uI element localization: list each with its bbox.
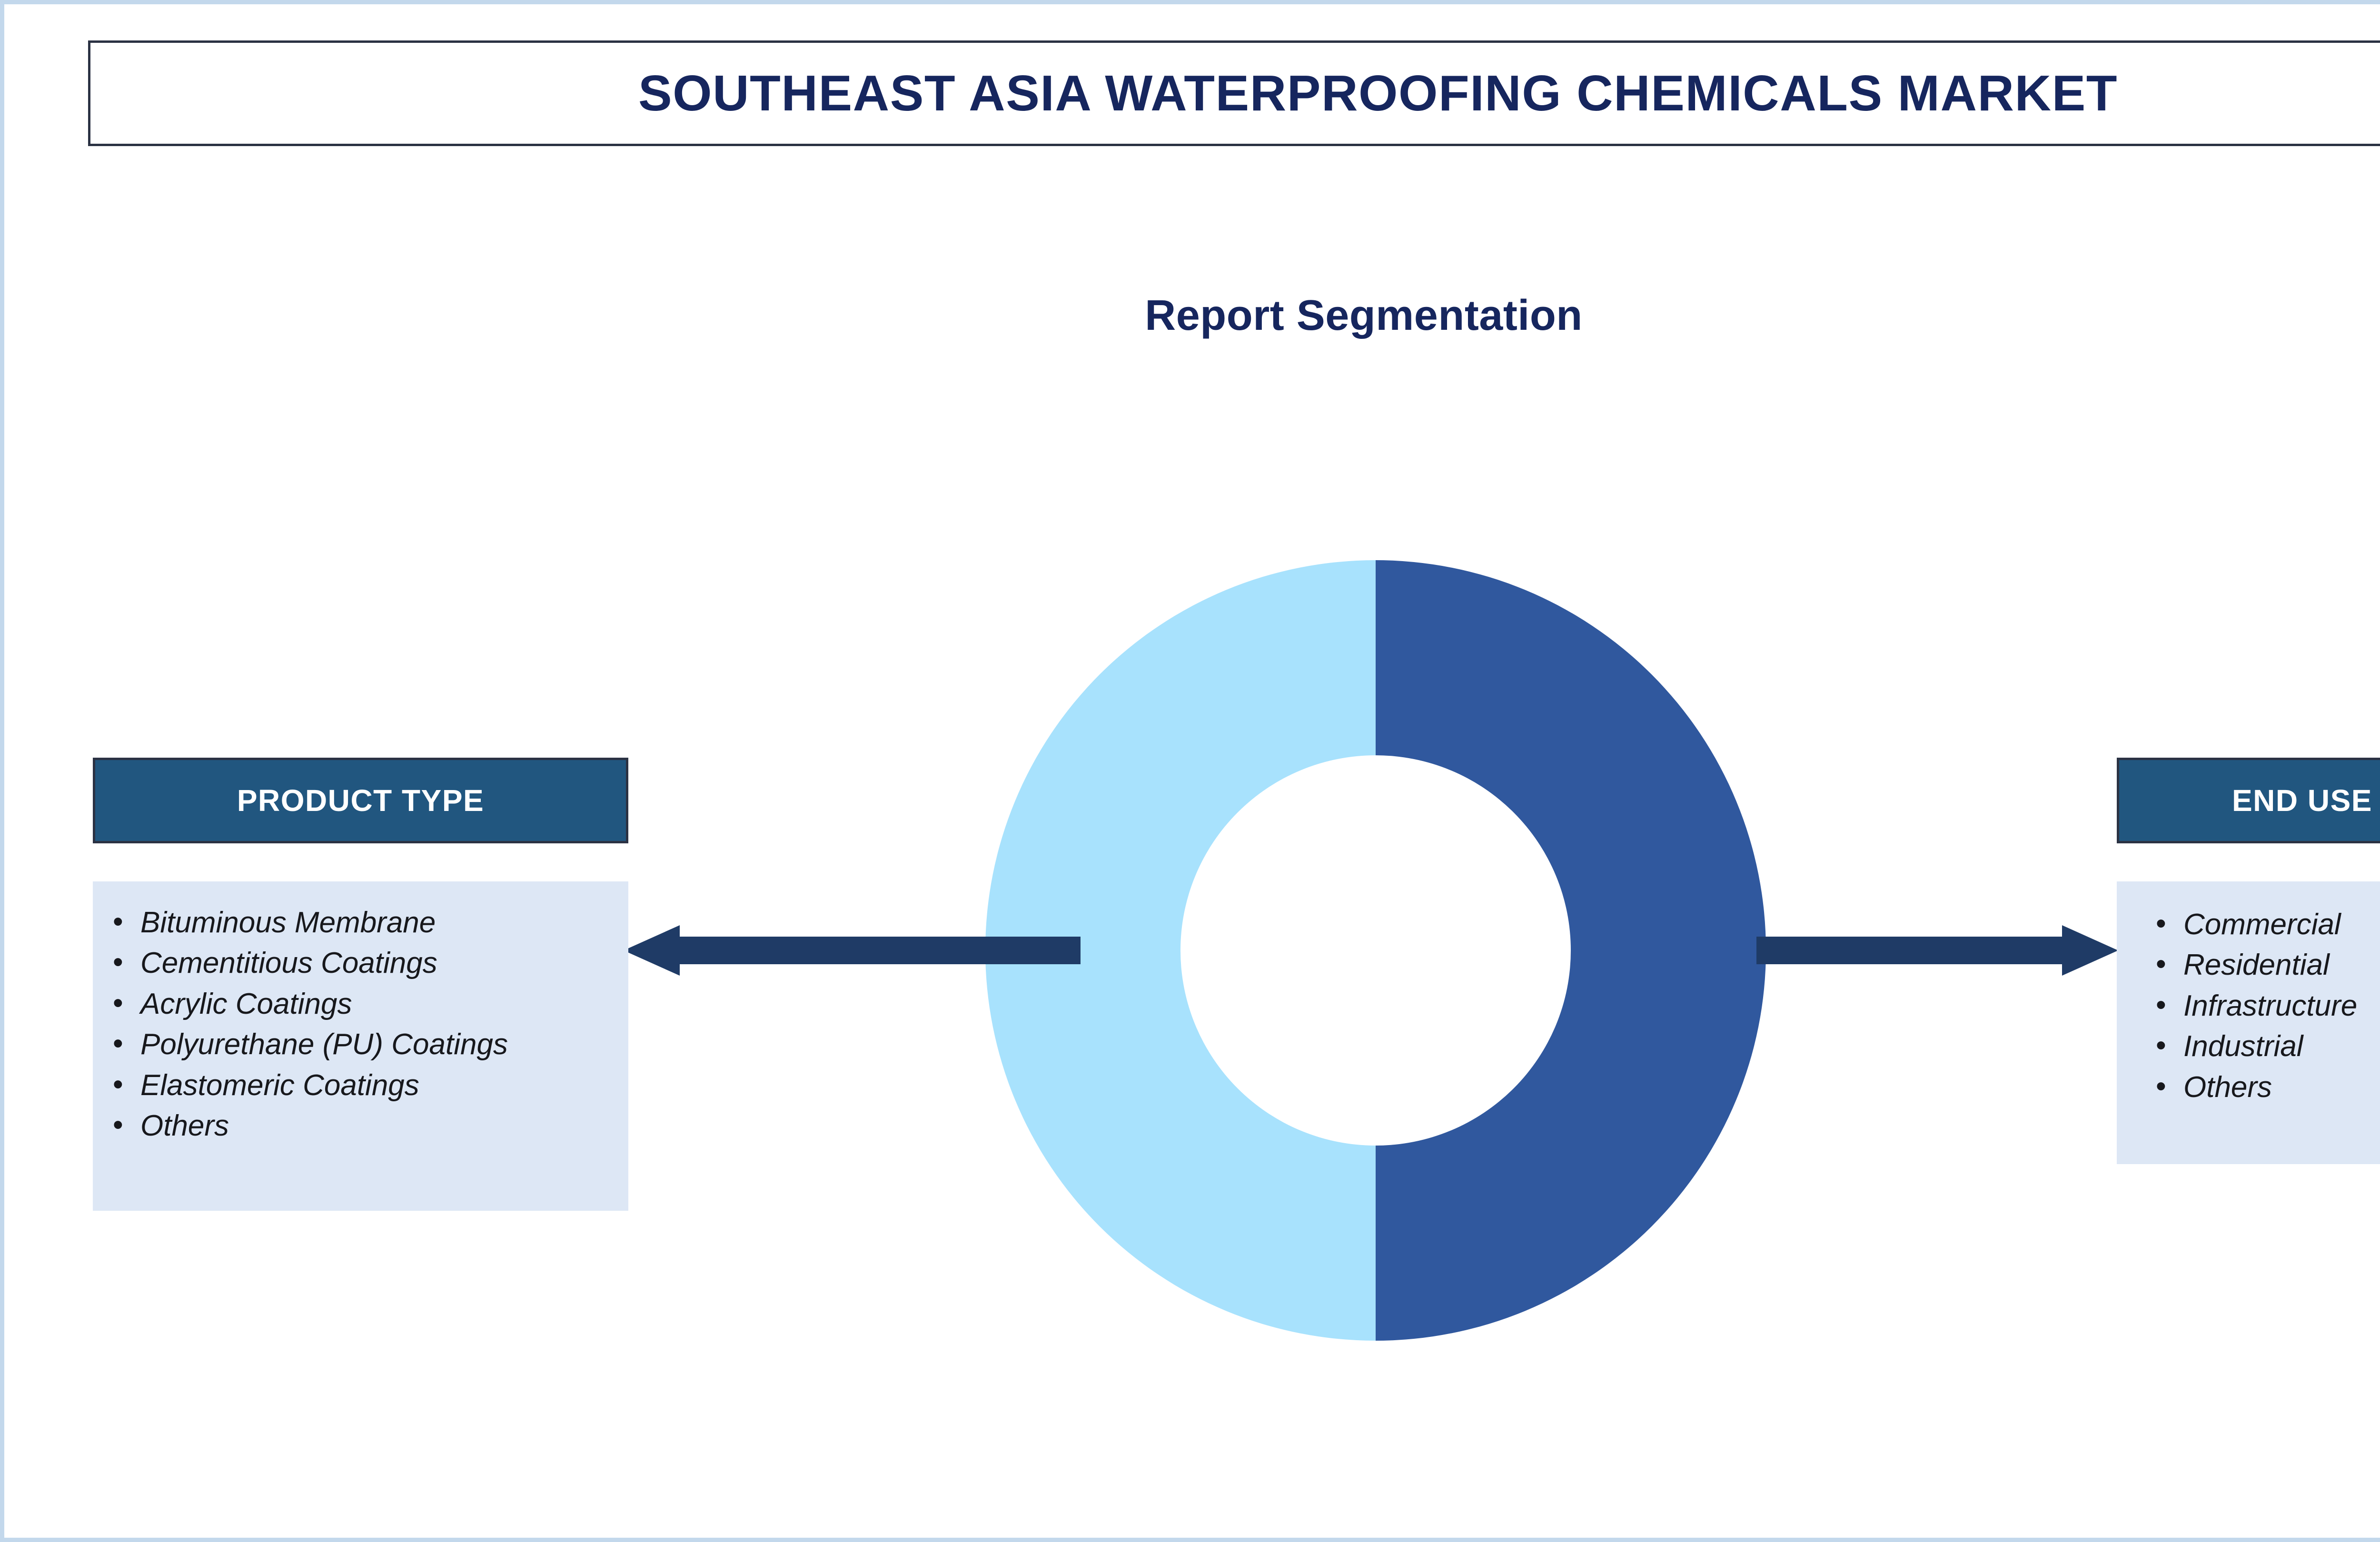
product-type-list: Bituminous Membrane Cementitious Coating… (103, 906, 617, 1143)
segment-header-end-use-industry-label: END USE INDUSTRY (2232, 783, 2380, 818)
list-item: Infrastructure (2146, 989, 2380, 1022)
donut-chart-svg (985, 560, 1766, 1341)
segment-panel-product-type: Bituminous Membrane Cementitious Coating… (93, 881, 628, 1211)
list-item: Cementitious Coatings (103, 947, 617, 979)
list-item: Industrial (2146, 1030, 2380, 1063)
segment-header-product-type: PRODUCT TYPE (93, 758, 628, 843)
infographic-canvas: SOUTHEAST ASIA WATERPROOFING CHEMICALS M… (0, 0, 2380, 1542)
segment-panel-end-use-industry: Commercial Residential Infrastructure In… (2117, 881, 2380, 1164)
donut-slice-end-use-industry (1376, 560, 1766, 1341)
list-item: Bituminous Membrane (103, 906, 617, 939)
left-arrow-icon (624, 925, 1081, 976)
list-item: Polyurethane (PU) Coatings (103, 1028, 617, 1061)
section-subtitle: Report Segmentation (0, 291, 2380, 340)
segment-header-product-type-label: PRODUCT TYPE (237, 783, 484, 818)
list-item: Acrylic Coatings (103, 988, 617, 1020)
list-item: Others (2146, 1071, 2380, 1104)
list-item: Others (103, 1109, 617, 1142)
list-item: Commercial (2146, 908, 2380, 941)
title-banner: SOUTHEAST ASIA WATERPROOFING CHEMICALS M… (88, 40, 2380, 146)
right-arrow-icon (1756, 925, 2118, 976)
segment-header-end-use-industry: END USE INDUSTRY (2117, 758, 2380, 843)
list-item: Elastomeric Coatings (103, 1069, 617, 1102)
end-use-industry-list: Commercial Residential Infrastructure In… (2146, 908, 2380, 1104)
page-title: SOUTHEAST ASIA WATERPROOFING CHEMICALS M… (638, 68, 2118, 119)
list-item: Residential (2146, 949, 2380, 981)
donut-chart (985, 560, 1766, 1341)
